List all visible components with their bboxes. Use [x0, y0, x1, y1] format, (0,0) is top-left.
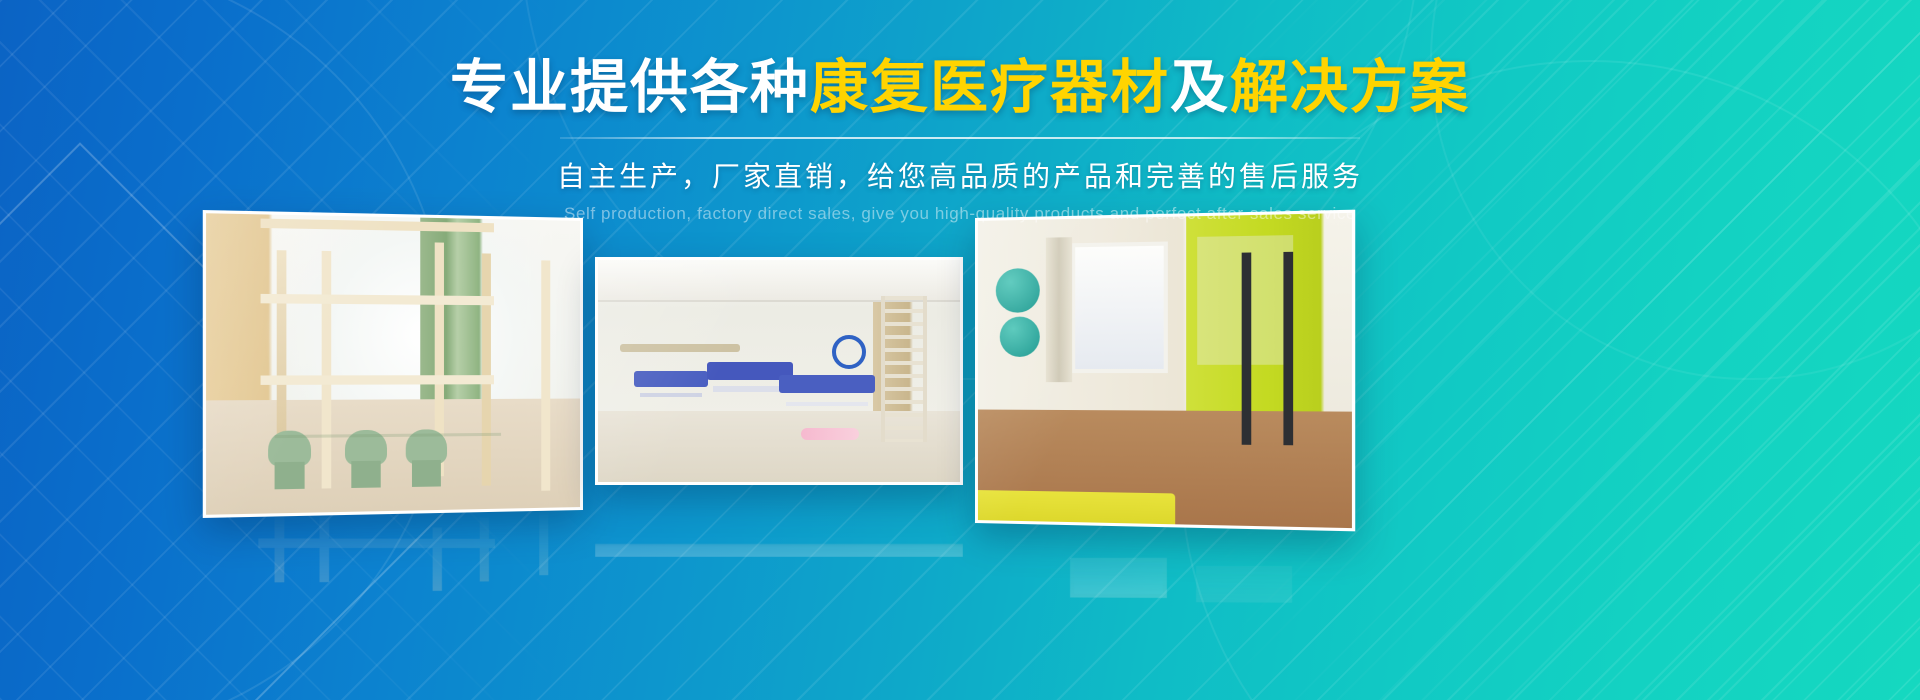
equipment-shape	[779, 375, 875, 393]
machine-post-shape	[1241, 252, 1251, 445]
banner-text-block: 专业提供各种康复医疗器材及解决方案 自主生产，厂家直销，给您高品质的产品和完善的…	[0, 58, 1920, 224]
headline-part-3: 及	[1170, 55, 1230, 120]
equipment-shape	[620, 344, 740, 352]
reflection-scene	[975, 603, 1355, 605]
curtain-shape	[1046, 237, 1072, 383]
wheel-shape	[832, 335, 866, 369]
photo-panel-therapy-hall[interactable]	[595, 257, 963, 485]
photo-panel-rehab-training-room[interactable]	[203, 210, 583, 518]
headline-part-4: 解决方案	[1230, 55, 1470, 120]
photo-scene	[206, 213, 580, 515]
photo-reflection	[595, 487, 963, 557]
chair-shape	[345, 430, 387, 488]
promo-banner: 专业提供各种康复医疗器材及解决方案 自主生产，厂家直销，给您高品质的产品和完善的…	[0, 0, 1920, 700]
photo-reflection	[975, 523, 1355, 605]
exercise-ball-shape	[999, 316, 1039, 356]
subtitle-chinese: 自主生产，厂家直销，给您高品质的产品和完善的售后服务	[0, 155, 1920, 195]
wall-ladder-shape	[881, 296, 927, 443]
headline: 专业提供各种康复医疗器材及解决方案	[0, 58, 1920, 119]
photo-reflection	[203, 510, 583, 592]
reflection-scene	[203, 590, 583, 592]
headline-part-1: 专业提供各种	[450, 55, 810, 120]
chair-shape	[405, 429, 446, 487]
machine-post-shape	[1284, 252, 1294, 446]
photo-scene	[978, 213, 1352, 528]
chair-shape	[269, 431, 312, 490]
headline-part-2: 康复医疗器材	[810, 55, 1170, 120]
equipment-shape	[634, 371, 708, 387]
mat-shape	[801, 428, 859, 440]
therapy-table-shape	[978, 490, 1175, 528]
photo-panel-fitness-rehab-gym[interactable]	[975, 210, 1355, 532]
exercise-ball-shape	[996, 268, 1040, 313]
headline-divider	[560, 137, 1360, 139]
subtitle-english: Self production, factory direct sales, g…	[0, 204, 1920, 224]
photo-scene	[598, 260, 960, 482]
